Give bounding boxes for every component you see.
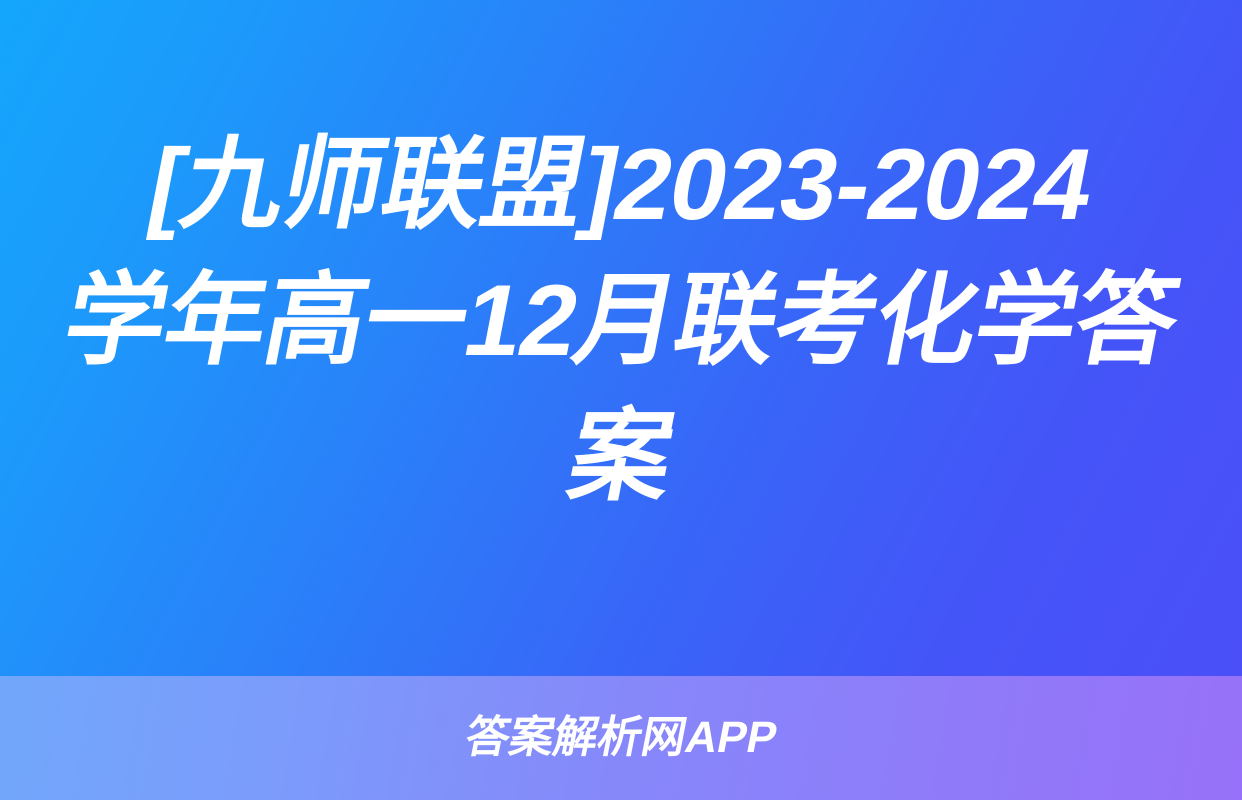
poster-canvas: [九师联盟]2023-2024 学年高一12月联考化学答 案 答案解析网APP xyxy=(0,0,1242,800)
poster-title-line-3: 案 xyxy=(558,389,684,525)
watermark-label: 答案解析网APP xyxy=(461,716,780,760)
poster-title-block: [九师联盟]2023-2024 学年高一12月联考化学答 案 xyxy=(0,0,1242,676)
poster-title-line-2: 学年高一12月联考化学答 xyxy=(53,253,1190,389)
poster-title-line-1: [九师联盟]2023-2024 xyxy=(138,117,1104,253)
watermark-band: 答案解析网APP xyxy=(0,676,1242,800)
